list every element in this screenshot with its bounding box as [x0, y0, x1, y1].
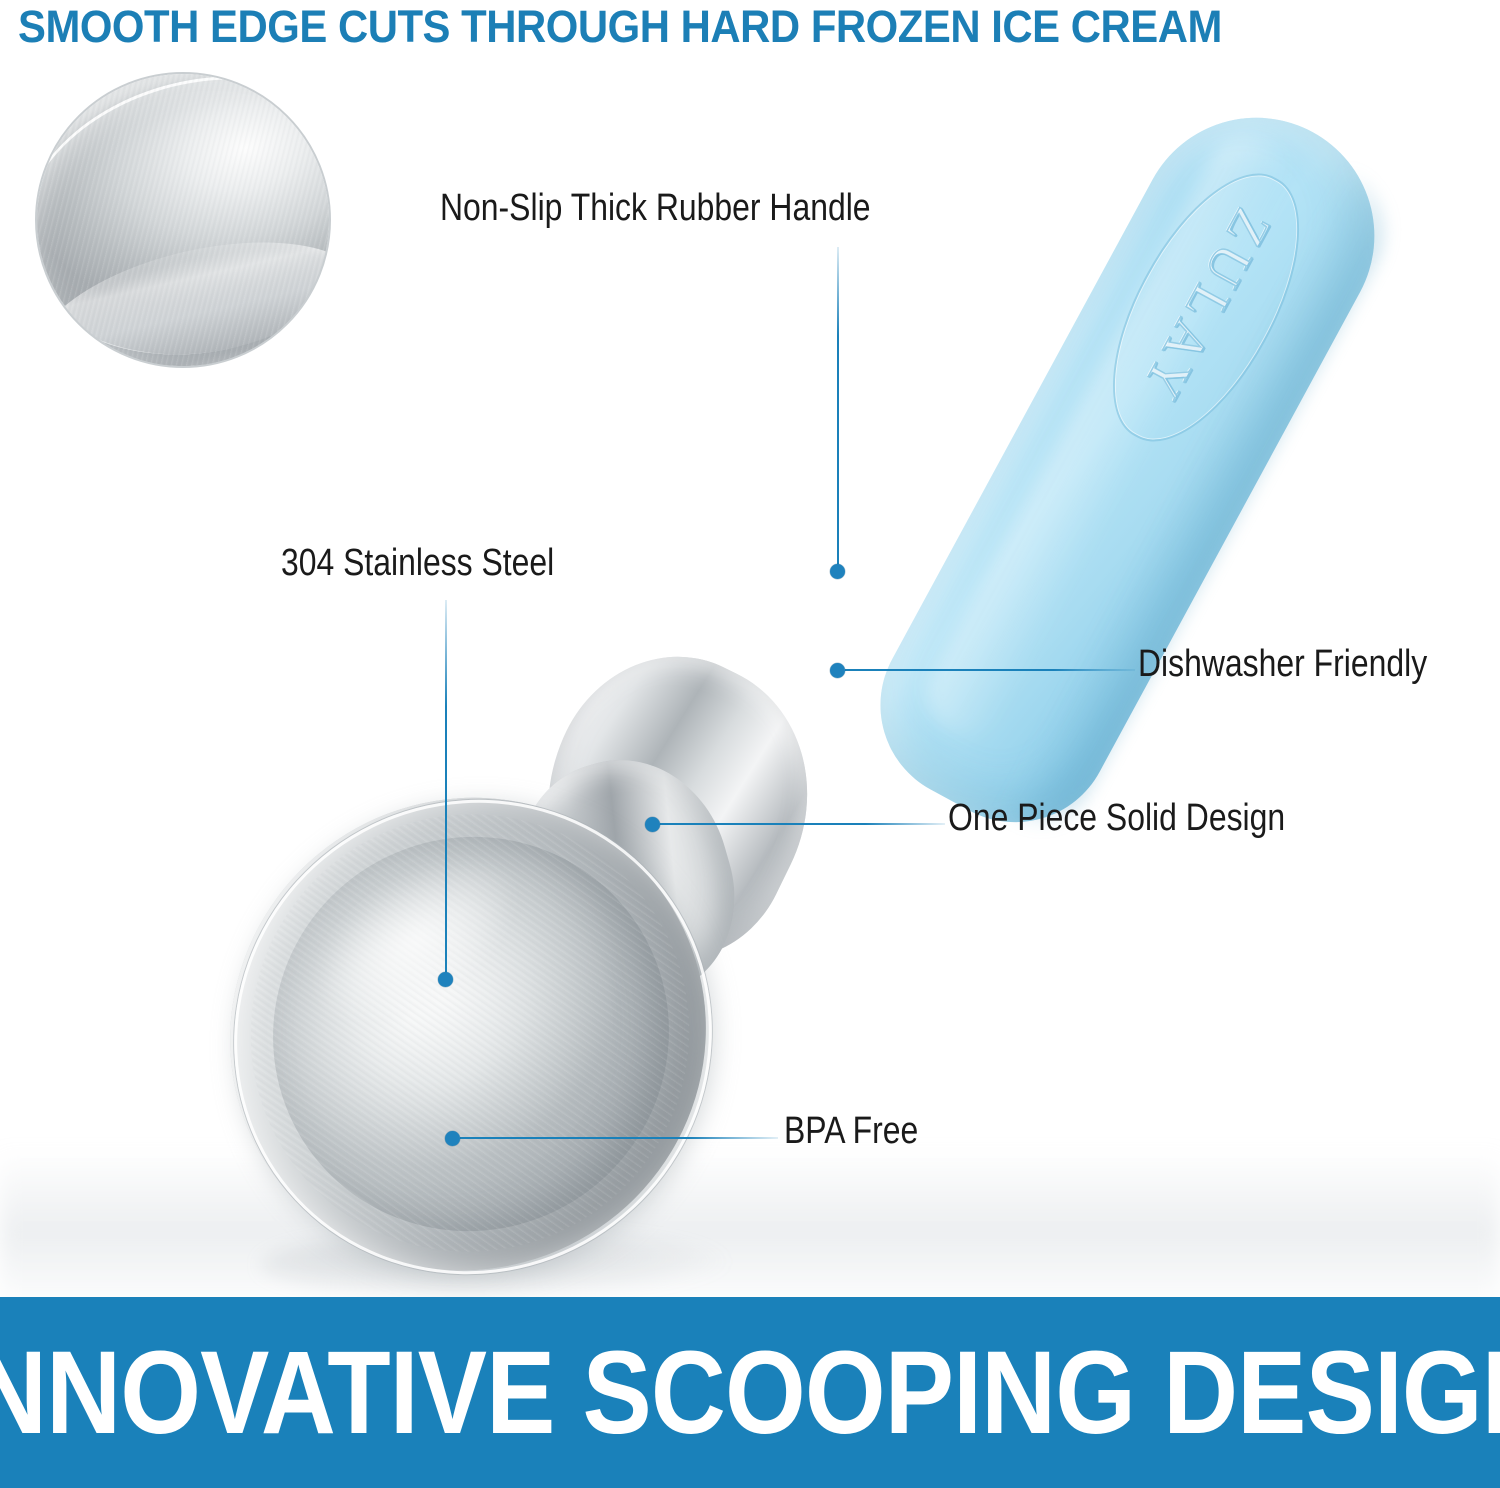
callout-leader-one-piece — [660, 823, 945, 825]
callout-dot-handle — [830, 564, 845, 579]
floor-shadow — [0, 1150, 1500, 1300]
callout-dot-dishwasher — [830, 663, 845, 678]
callout-leader-steel — [445, 600, 447, 980]
rubber-handle: ZULAY — [846, 76, 1416, 857]
bottom-banner: INNOVATIVE SCOOPING DESIGN — [0, 1297, 1500, 1488]
callout-label-steel: 304 Stainless Steel — [281, 542, 554, 584]
banner-headline: INNOVATIVE SCOOPING DESIGN — [0, 1334, 1500, 1452]
callout-leader-bpa — [460, 1137, 778, 1139]
callout-leader-dishwasher — [845, 669, 1135, 671]
callout-dot-steel — [438, 972, 453, 987]
callout-leader-handle — [837, 247, 839, 565]
callout-label-bpa: BPA Free — [784, 1110, 918, 1152]
callout-dot-bpa — [445, 1131, 460, 1146]
product-infographic: SMOOTH EDGE CUTS THROUGH HARD FROZEN ICE… — [0, 0, 1500, 1488]
callout-label-one-piece: One Piece Solid Design — [948, 797, 1285, 839]
callout-label-dishwasher: Dishwasher Friendly — [1138, 643, 1427, 685]
callout-dot-one-piece — [645, 817, 660, 832]
callout-label-handle: Non-Slip Thick Rubber Handle — [440, 187, 871, 229]
